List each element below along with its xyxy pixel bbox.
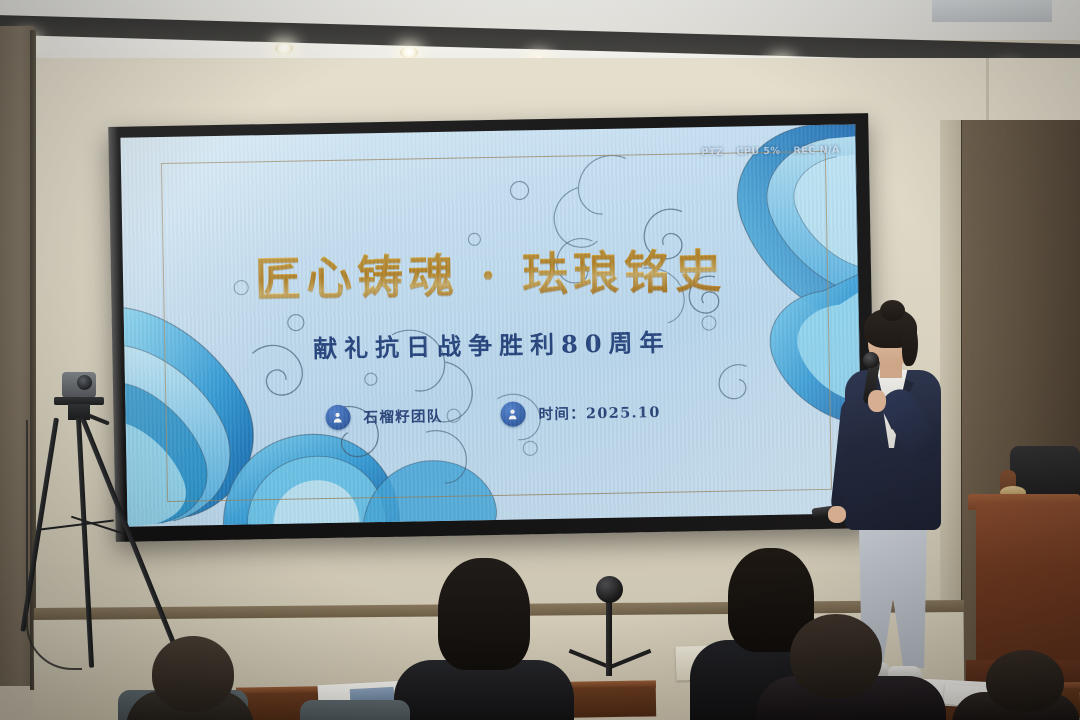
attendee-right-head bbox=[986, 650, 1064, 712]
chair-back bbox=[300, 700, 410, 720]
osd-item-ptz: PTZ bbox=[701, 147, 723, 158]
person-badge-icon bbox=[500, 401, 525, 426]
slide-meta-row: 石榴籽团队 时间：2025.10 bbox=[325, 399, 660, 430]
slide-meta-date-label: 时间：2025.10 bbox=[538, 401, 660, 424]
slide-meta-date: 时间：2025.10 bbox=[500, 399, 661, 427]
desk-microphone-head-icon bbox=[596, 576, 623, 603]
slide-meta-team: 石榴籽团队 bbox=[325, 403, 442, 430]
attendee-mid-left-head bbox=[438, 558, 530, 670]
camera-cable bbox=[26, 420, 82, 670]
ceiling-downlight bbox=[275, 43, 293, 54]
slide-surface: 匠心铸魂 · 珐琅铭史 献礼抗日战争胜利80周年 石榴籽团队 bbox=[120, 124, 862, 526]
osd-item-cpu: CPU 5% bbox=[736, 146, 780, 158]
slide-content: 匠心铸魂 · 珐琅铭史 献礼抗日战争胜利80周年 石榴籽团队 bbox=[120, 124, 862, 526]
attendee-mid-right-head bbox=[790, 614, 882, 698]
presenter-hand-right bbox=[868, 390, 886, 412]
presenter-hand-left bbox=[828, 506, 846, 523]
attendee-front-left-head bbox=[152, 636, 234, 712]
slide-subtitle: 献礼抗日战争胜利80周年 bbox=[313, 323, 671, 365]
camera-lens-icon bbox=[77, 375, 92, 390]
ceiling-vent bbox=[932, 0, 1052, 22]
ceiling-downlight bbox=[400, 47, 418, 58]
conference-room-photo: 匠心铸魂 · 珐琅铭史 献礼抗日战争胜利80周年 石榴籽团队 bbox=[0, 0, 1080, 720]
osd-item-rec: REC N/A bbox=[793, 145, 840, 157]
slide-meta-team-label: 石榴籽团队 bbox=[363, 405, 442, 427]
ptz-camera-tripod bbox=[30, 372, 160, 692]
microphone-head-icon bbox=[863, 352, 879, 368]
slide-title: 匠心铸魂 · 珐琅铭史 bbox=[254, 235, 726, 310]
presenter-hair-bun bbox=[880, 300, 905, 321]
presenter-hair-side bbox=[902, 322, 918, 366]
projector-screen[interactable]: 匠心铸魂 · 珐琅铭史 献礼抗日战争胜利80周年 石榴籽团队 bbox=[108, 113, 875, 542]
person-badge-icon bbox=[325, 405, 350, 430]
